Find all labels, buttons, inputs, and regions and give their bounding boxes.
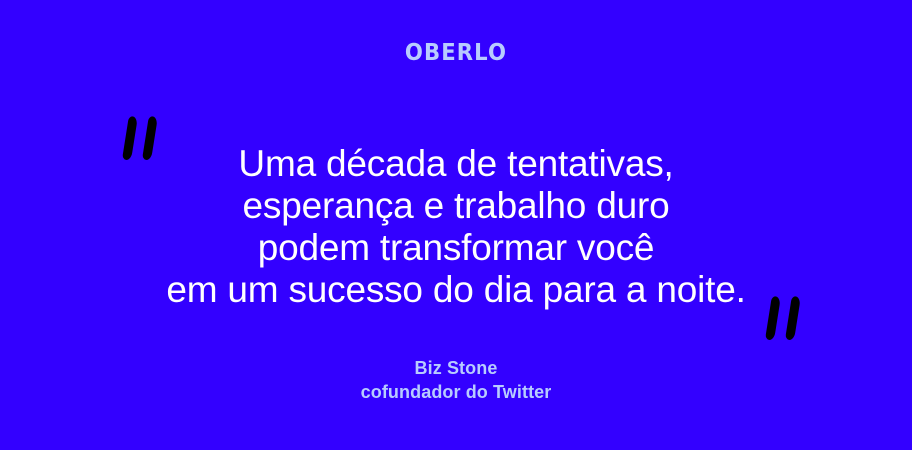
quote-text: Uma década de tentativas, esperança e tr… bbox=[0, 143, 912, 311]
quote-close-stroke-1 bbox=[765, 296, 781, 341]
quote-line-2: esperança e trabalho duro bbox=[0, 185, 912, 227]
quote-line-3: podem transformar você bbox=[0, 227, 912, 269]
quote-line-1: Uma década de tentativas, bbox=[0, 143, 912, 185]
quote-close-stroke-2 bbox=[785, 296, 801, 341]
author-role: cofundador do Twitter bbox=[0, 380, 912, 404]
quote-close-icon bbox=[765, 296, 797, 342]
quote-card: OBERLO Uma década de tentativas, esperan… bbox=[0, 0, 912, 450]
attribution: Biz Stone cofundador do Twitter bbox=[0, 356, 912, 404]
brand-logo: OBERLO bbox=[36, 40, 875, 66]
author-name: Biz Stone bbox=[0, 356, 912, 380]
